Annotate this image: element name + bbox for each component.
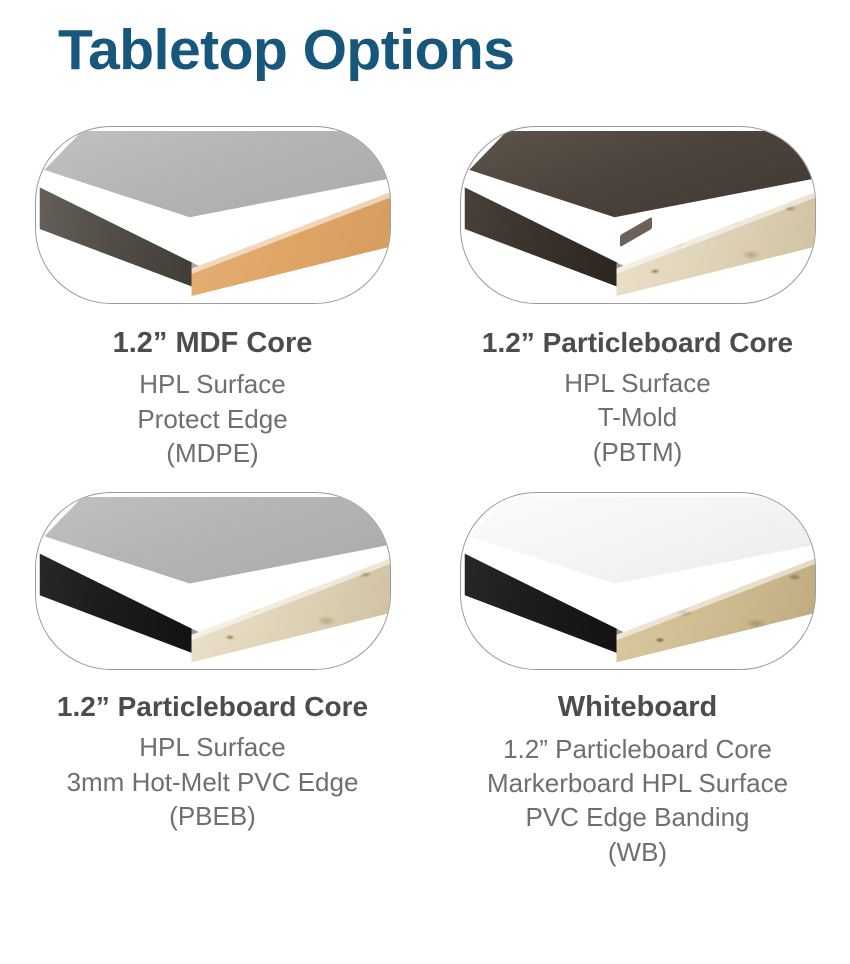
page-title: Tabletop Options <box>58 18 514 84</box>
tabletop-corner-sample-pbeb <box>36 493 390 669</box>
option-detail-lines: HPL Surface Protect Edge (MDPE) <box>0 367 425 470</box>
caption-mdpe: 1.2” MDF Core HPL Surface Protect Edge (… <box>0 304 425 470</box>
option-card-pbeb[interactable]: 1.2” Particleboard Core HPL Surface 3mm … <box>0 492 425 869</box>
option-detail-line: 3mm Hot-Melt PVC Edge <box>0 765 425 799</box>
sample-frame-pbtm <box>460 126 816 304</box>
option-card-pbtm[interactable]: 1.2” Particleboard Core HPL Surface T-Mo… <box>425 126 850 470</box>
tabletop-options-page: Tabletop Options 1.2” MDF Core HPL Surfa… <box>0 0 850 964</box>
option-detail-lines: 1.2” Particleboard Core Markerboard HPL … <box>425 732 850 869</box>
option-title: 1.2” MDF Core <box>0 326 425 361</box>
option-code: (WB) <box>425 835 850 869</box>
option-detail-line: Markerboard HPL Surface <box>425 766 850 800</box>
option-detail-lines: HPL Surface 3mm Hot-Melt PVC Edge (PBEB) <box>0 730 425 833</box>
caption-wb: Whiteboard 1.2” Particleboard Core Marke… <box>425 670 850 869</box>
tabletop-corner-sample-pbtm <box>461 127 815 303</box>
option-code: (PBTM) <box>425 435 850 469</box>
tabletop-corner-sample-wb <box>461 493 815 669</box>
option-detail-line: 1.2” Particleboard Core <box>425 732 850 766</box>
option-detail-line: T-Mold <box>425 400 850 434</box>
sample-frame-pbeb <box>35 492 391 670</box>
option-detail-line: PVC Edge Banding <box>425 800 850 834</box>
sample-frame-wb <box>460 492 816 670</box>
option-code: (MDPE) <box>0 436 425 470</box>
option-card-wb[interactable]: Whiteboard 1.2” Particleboard Core Marke… <box>425 492 850 869</box>
option-title: 1.2” Particleboard Core <box>0 690 425 724</box>
caption-pbeb: 1.2” Particleboard Core HPL Surface 3mm … <box>0 670 425 833</box>
option-detail-line: HPL Surface <box>0 367 425 401</box>
caption-pbtm: 1.2” Particleboard Core HPL Surface T-Mo… <box>425 304 850 469</box>
option-detail-lines: HPL Surface T-Mold (PBTM) <box>425 366 850 469</box>
option-title: Whiteboard <box>425 690 850 725</box>
option-title: 1.2” Particleboard Core <box>425 326 850 360</box>
option-card-mdpe[interactable]: 1.2” MDF Core HPL Surface Protect Edge (… <box>0 126 425 470</box>
option-detail-line: HPL Surface <box>425 366 850 400</box>
sample-frame-mdpe <box>35 126 391 304</box>
tabletop-corner-sample-mdpe <box>36 127 390 303</box>
option-code: (PBEB) <box>0 799 425 833</box>
t-mold-groove-icon <box>620 216 652 247</box>
tabletop-options-grid: 1.2” MDF Core HPL Surface Protect Edge (… <box>0 126 850 869</box>
option-detail-line: Protect Edge <box>0 402 425 436</box>
option-detail-line: HPL Surface <box>0 730 425 764</box>
